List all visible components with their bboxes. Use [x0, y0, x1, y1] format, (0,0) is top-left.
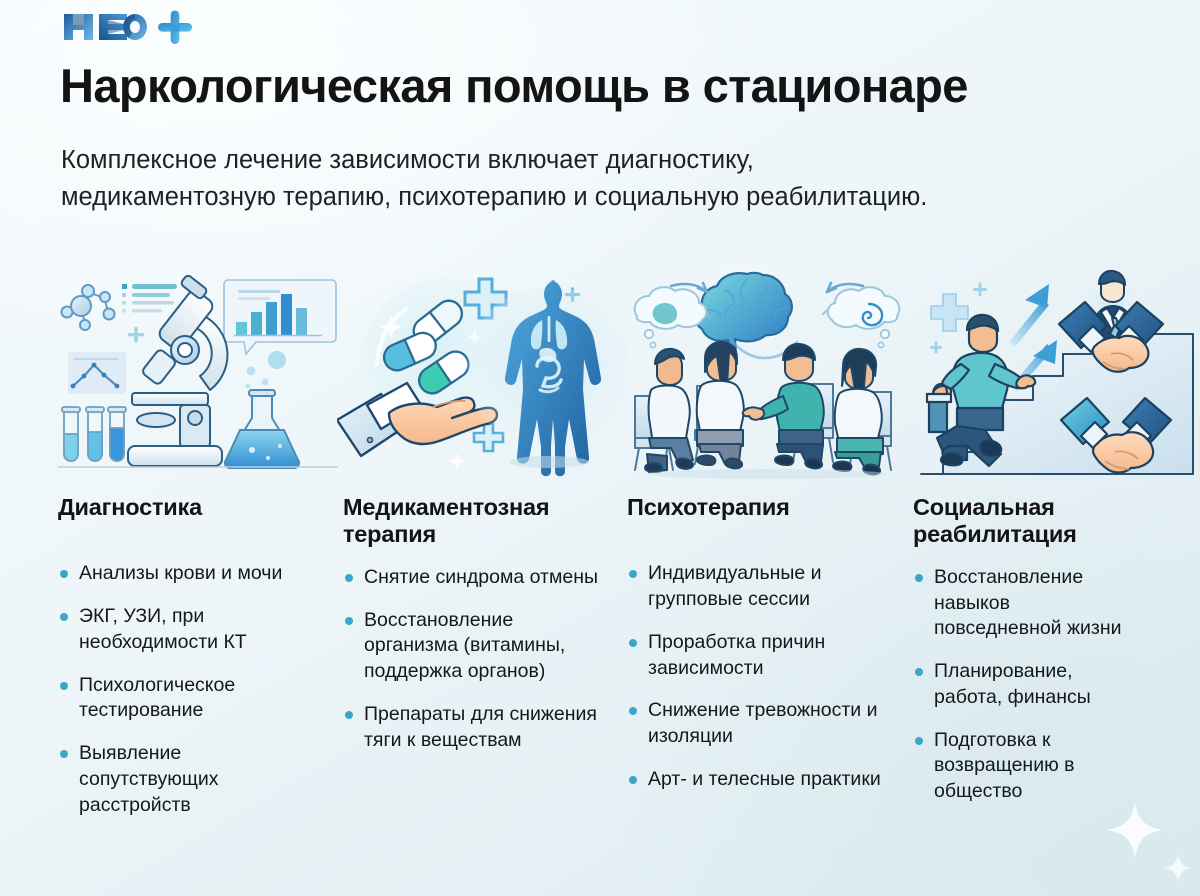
column-heading-psychotherapy: Психотерапия — [627, 494, 877, 521]
line-chart-icon — [68, 352, 126, 394]
page-subtitle: Комплексное лечение зависимости включает… — [61, 142, 941, 215]
illustration-stairs-handshake — [907, 268, 1199, 480]
report-lines-icon — [122, 284, 177, 313]
stairs-handshake-icon — [907, 268, 1199, 480]
list-item: ЭКГ, УЗИ, при необходимости КТ — [58, 604, 313, 655]
list-item: Планирование, работа, финансы — [913, 659, 1128, 710]
microscope-lab-icon — [52, 268, 344, 480]
list-item: Подготовка к возвращению в общество — [913, 728, 1128, 805]
column-heading-diagnostics: Диагностика — [58, 494, 308, 521]
illustration-microscope-lab — [52, 268, 344, 480]
list-item: Индивидуальные и групповые сессии — [627, 561, 882, 612]
bullet-list-psychotherapy: Индивидуальные и групповые сессии Прораб… — [627, 561, 911, 792]
list-item: Арт- и телесные практики — [627, 767, 882, 793]
group-therapy-brain-icon — [621, 268, 913, 480]
seated-person-icon — [697, 342, 744, 469]
seated-person-icon — [743, 344, 824, 469]
column-diagnostics: Диагностика Анализы крови и мочи ЭКГ, УЗ… — [52, 268, 342, 896]
columns-container: Диагностика Анализы крови и мочи ЭКГ, УЗ… — [0, 268, 1200, 896]
column-psychotherapy: Психотерапия Индивидуальные и групповые … — [621, 268, 911, 896]
bar-chart-bubble-icon — [224, 280, 336, 354]
column-medication: Медикаментозная терапия Снятие синдрома … — [337, 268, 627, 896]
neo-plus-logo-icon — [62, 10, 202, 44]
column-heading-social-rehab: Социальная реабилитация — [913, 494, 1163, 549]
test-tubes-icon — [62, 407, 126, 461]
hand-pills-body-icon — [337, 268, 629, 480]
list-item: Анализы крови и мочи — [58, 561, 313, 587]
list-item: Психологическое тестирование — [58, 673, 313, 724]
bullet-list-medication: Снятие синдрома отмены Восстановление ор… — [343, 565, 627, 753]
bullet-list-social-rehab: Восстановление навыков повседневной жизн… — [913, 565, 1197, 805]
list-item: Препараты для снижения тяги к веществам — [343, 702, 605, 753]
page-title: Наркологическая помощь в стационаре — [60, 60, 1150, 113]
molecule-icon — [62, 285, 115, 330]
list-item: Восстановление организма (витамины, подд… — [343, 608, 605, 685]
column-social-rehab: Социальная реабилитация Восстановление н… — [907, 268, 1197, 896]
erlenmeyer-flask-icon — [225, 390, 299, 468]
illustration-group-therapy — [621, 268, 913, 480]
list-item: Снятие синдрома отмены — [343, 565, 605, 591]
bullet-list-diagnostics: Анализы крови и мочи ЭКГ, УЗИ, при необх… — [58, 561, 342, 818]
plus-icon — [128, 327, 144, 343]
list-item: Восстановление навыков повседневной жизн… — [913, 565, 1128, 642]
up-arrow-icon — [1007, 284, 1049, 347]
list-item: Выявление сопутствующих расстройств — [58, 741, 313, 818]
illustration-hand-pills-body — [337, 268, 629, 480]
thought-bubble-icon — [828, 287, 900, 347]
medical-cross-icon — [931, 294, 968, 331]
bubbles-icon — [246, 351, 286, 388]
list-item: Снижение тревожности и изоляции — [627, 698, 882, 749]
thought-bubble-icon — [635, 287, 707, 347]
infographic-page: Наркологическая помощь в стационаре Комп… — [0, 0, 1200, 896]
seated-person-icon — [833, 349, 883, 475]
brand-logo — [62, 10, 202, 44]
column-heading-medication: Медикаментозная терапия — [343, 494, 593, 549]
list-item: Проработка причин зависимости — [627, 630, 882, 681]
